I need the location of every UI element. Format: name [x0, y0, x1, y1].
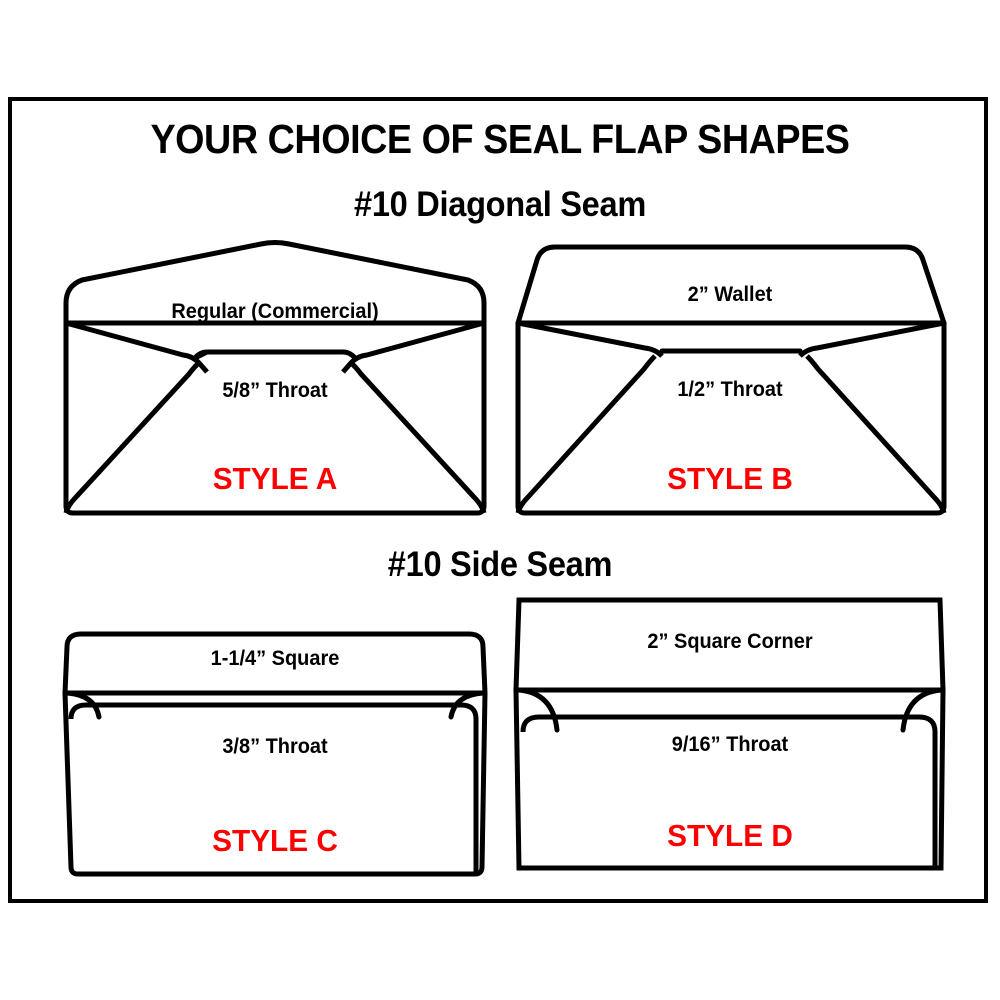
flap-label-a: Regular (Commercial): [66, 300, 484, 324]
throat-label-c: 3/8” Throat: [66, 735, 484, 759]
throat-label-b: 1/2” Throat: [516, 378, 944, 402]
flap-label-b: 2” Wallet: [516, 283, 944, 307]
section-heading-diagonal-seam: #10 Diagonal Seam: [35, 185, 965, 225]
envelope-style-b[interactable]: 2” Wallet 1/2” Throat STYLE B: [505, 238, 955, 528]
flap-label-d: 2” Square Corner: [516, 630, 944, 654]
envelope-style-c[interactable]: 1-1/4” Square 3/8” Throat STYLE C: [55, 615, 495, 885]
poster-canvas: YOUR CHOICE OF SEAL FLAP SHAPES #10 Diag…: [0, 0, 1000, 1000]
page-title: YOUR CHOICE OF SEAL FLAP SHAPES: [40, 116, 960, 163]
throat-label-d: 9/16” Throat: [516, 733, 944, 757]
throat-label-a: 5/8” Throat: [66, 379, 484, 403]
envelope-style-d[interactable]: 2” Square Corner 9/16” Throat STYLE D: [505, 590, 955, 880]
style-label-b: STYLE B: [514, 461, 946, 497]
style-label-d: STYLE D: [514, 818, 946, 854]
flap-label-c: 1-1/4” Square: [66, 647, 484, 671]
style-label-a: STYLE A: [64, 461, 486, 497]
section-heading-side-seam: #10 Side Seam: [35, 545, 965, 585]
style-label-c: STYLE C: [64, 823, 486, 859]
envelope-style-a[interactable]: Regular (Commercial) 5/8” Throat STYLE A: [55, 238, 495, 528]
